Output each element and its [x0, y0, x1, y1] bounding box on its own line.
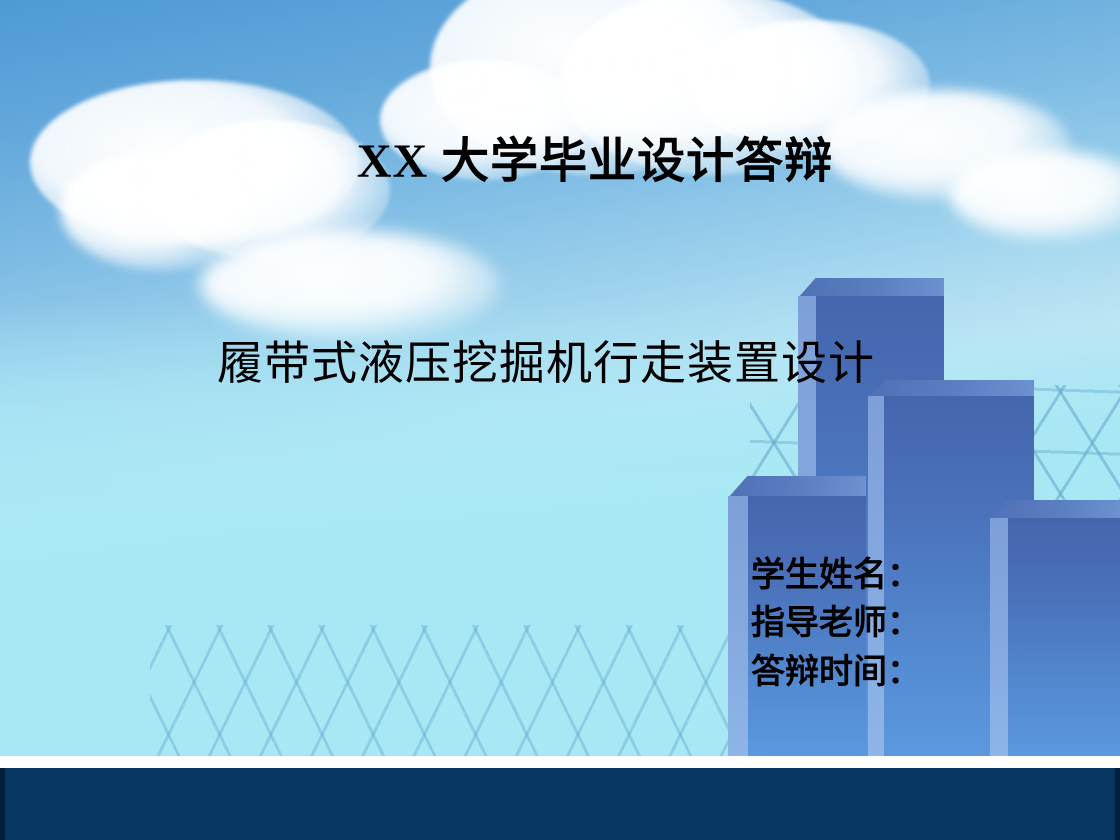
footer-navy-band	[0, 768, 1120, 840]
slide-title: XX 大学毕业设计答辩	[0, 136, 1120, 188]
building-side	[990, 518, 1008, 766]
presenter-field-defense-date: 答辩时间：	[700, 649, 972, 697]
presenter-field-student-name: 学生姓名：	[700, 552, 972, 600]
slide-subtitle: 履带式液压挖掘机行走装置设计	[190, 336, 902, 392]
building-roof	[990, 500, 1120, 520]
footer-edge-right	[1115, 768, 1120, 840]
presentation-slide: XX 大学毕业设计答辩 履带式液压挖掘机行走装置设计 学生姓名： 指导老师： 答…	[0, 0, 1120, 840]
building-roof	[728, 476, 866, 498]
building-block-front	[1008, 518, 1120, 766]
building-front	[1008, 518, 1120, 766]
building-roof	[798, 278, 944, 298]
truss-pattern-lower	[150, 625, 750, 775]
footer-edge-left	[0, 768, 5, 840]
presenter-info-block: 学生姓名： 指导老师： 答辩时间：	[700, 552, 972, 697]
presenter-field-advisor: 指导老师：	[700, 600, 972, 648]
